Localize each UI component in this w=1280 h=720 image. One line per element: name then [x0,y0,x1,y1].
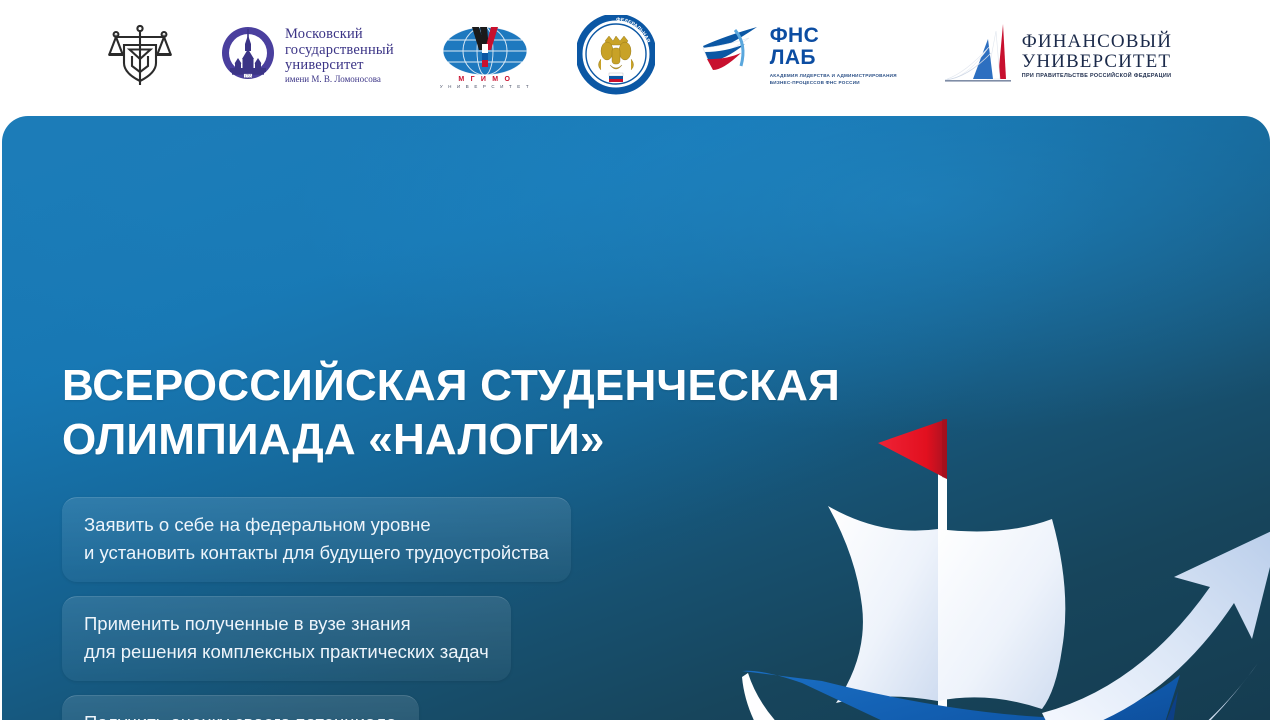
benefit-card-1-line-2: и установить контакты для будущего трудо… [84,539,549,567]
fns-lab-line-2: ЛАБ [770,47,897,68]
hero-panel: ВСЕРОССИЙСКАЯ СТУДЕНЧЕСКАЯ ОЛИМПИАДА «НА… [2,116,1270,720]
benefit-card-3: Получить оценку своего потенциала от вед… [62,695,419,720]
svg-text:1755: 1755 [244,74,251,78]
fns-lab-subtitle-1: АКАДЕМИЯ ЛИДЕРСТВА И АДМИНИСТРИРОВАНИЯ [770,73,897,80]
benefit-card-1: Заявить о себе на федеральном уровне и у… [62,497,571,582]
benefit-list: Заявить о себе на федеральном уровне и у… [62,497,571,720]
msu-line-1: Московский [285,27,394,42]
fns-seal-icon: ФЕДЕРАЛЬНАЯ [577,15,655,97]
mgimo-caption: М Г И М О [458,76,512,83]
msu-line-2: государственный [285,43,394,58]
logo-fns-emblem: ФЕДЕРАЛЬНАЯ [577,15,655,97]
benefit-card-1-line-1: Заявить о себе на федеральном уровне [84,511,549,539]
ship-flag [878,419,947,479]
ship-sail-left [828,506,938,703]
finuniver-sail-icon [943,23,1015,89]
finuniver-wordmark: ФИНАНСОВЫЙ УНИВЕРСИТЕТ ПРИ ПРАВИТЕЛЬСТВЕ… [1022,32,1172,80]
msu-tower-icon: 1755 [218,25,278,87]
fns-lab-line-1: ФНС [770,25,897,46]
msu-subtitle: имени М. В. Ломоносова [285,75,394,85]
logo-mgimo: М Г И М О У Н И В Е Р С И Т Е Т [440,24,531,89]
sailing-ship-arrow-icon [742,391,1270,720]
mgimo-globe-icon [442,24,528,76]
growth-arrow [1042,527,1270,720]
benefit-card-2-line-1: Применить полученные в вузе знания [84,610,489,638]
msu-line-3: университет [285,58,394,73]
ship-flag-shadow [942,419,947,479]
logo-fns-lab: ФНС ЛАБ АКАДЕМИЯ ЛИДЕРСТВА И АДМИНИСТРИР… [701,25,897,86]
benefit-card-3-line-1: Получить оценку своего потенциала [84,709,397,720]
finuniver-subtitle: ПРИ ПРАВИТЕЛЬСТВЕ РОССИЙСКОЙ ФЕДЕРАЦИИ [1022,74,1172,80]
logo-msu: 1755 Московский государственный универси… [218,25,394,87]
fns-lab-wordmark: ФНС ЛАБ АКАДЕМИЯ ЛИДЕРСТВА И АДМИНИСТРИР… [770,25,897,86]
mgimo-caption-sub: У Н И В Е Р С И Т Е Т [440,84,531,89]
ship-sail-right [938,519,1065,709]
benefit-card-2: Применить полученные в вузе знания для р… [62,596,511,681]
finuniver-line-1: ФИНАНСОВЫЙ [1022,32,1172,52]
scales-shield-icon [108,23,172,89]
slide-root: 1755 Московский государственный универси… [0,0,1280,720]
logo-msu-law-emblem [108,23,172,89]
benefit-card-2-line-2: для решения комплексных практических зад… [84,638,489,666]
fns-lab-swoosh-icon [701,26,763,86]
partner-logo-strip: 1755 Московский государственный универси… [0,0,1280,112]
msu-wordmark: Московский государственный университет и… [285,27,394,85]
finuniver-line-2: УНИВЕРСИТЕТ [1022,52,1172,72]
logo-finuniver: ФИНАНСОВЫЙ УНИВЕРСИТЕТ ПРИ ПРАВИТЕЛЬСТВЕ… [943,23,1172,89]
fns-lab-subtitle-2: БИЗНЕС-ПРОЦЕССОВ ФНС РОССИИ [770,80,897,87]
